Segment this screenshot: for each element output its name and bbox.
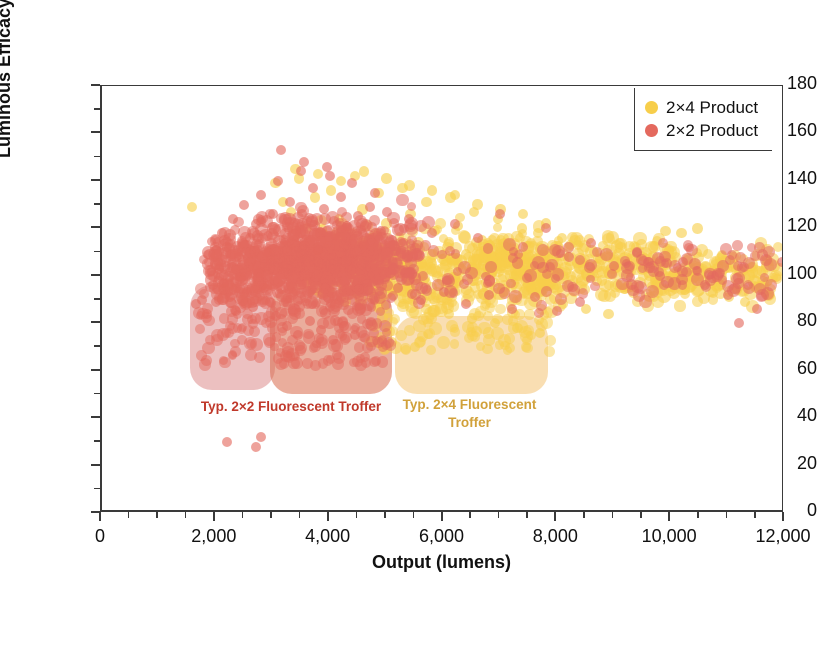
data-point <box>251 219 261 229</box>
x-tick-minor <box>299 512 301 518</box>
x-tick-label: 8,000 <box>495 526 615 547</box>
x-tick-minor <box>754 512 756 518</box>
data-point <box>472 199 482 209</box>
data-point <box>310 281 321 292</box>
data-point <box>217 228 227 238</box>
data-point <box>308 183 318 193</box>
x-tick-minor <box>128 512 130 518</box>
x-tick-major <box>441 512 443 521</box>
data-point <box>378 335 387 344</box>
data-point <box>704 268 716 280</box>
data-point <box>484 290 494 300</box>
data-point <box>195 324 205 334</box>
data-point <box>211 334 223 346</box>
legend-label-2x4: 2×4 Product <box>666 98 758 118</box>
data-point <box>439 287 449 297</box>
data-point <box>296 166 306 176</box>
data-point <box>245 247 256 258</box>
data-point <box>256 190 266 200</box>
x-tick-label: 2,000 <box>154 526 274 547</box>
data-point <box>524 269 537 282</box>
x-tick-label: 4,000 <box>268 526 388 547</box>
annotation-band-2x2: Typ. 2×2 Fluorescent Troffer <box>186 398 396 416</box>
data-point <box>421 197 431 207</box>
data-point <box>381 173 391 183</box>
data-point <box>535 328 545 338</box>
data-point <box>187 202 197 212</box>
data-point <box>674 300 685 311</box>
x-tick-label: 6,000 <box>382 526 502 547</box>
data-point <box>661 259 670 268</box>
data-point <box>545 335 556 346</box>
data-point <box>575 297 585 307</box>
data-point <box>703 249 713 259</box>
data-point <box>410 342 420 352</box>
data-point <box>337 207 347 217</box>
data-point <box>404 325 414 335</box>
data-point <box>765 279 777 291</box>
data-point <box>285 197 295 207</box>
data-point <box>590 282 599 291</box>
x-tick-minor <box>640 512 642 518</box>
data-point <box>517 223 527 233</box>
data-point <box>678 257 688 267</box>
data-point <box>405 257 417 269</box>
data-point <box>239 200 249 210</box>
data-point <box>330 264 340 274</box>
x-tick-minor <box>185 512 187 518</box>
data-point <box>336 176 346 186</box>
legend-label-2x2: 2×2 Product <box>666 121 758 141</box>
data-point <box>328 305 340 317</box>
y-tick-major <box>91 179 100 181</box>
data-point <box>313 245 323 255</box>
data-point <box>394 223 407 236</box>
data-point <box>255 312 267 324</box>
x-axis-title: Output (lumens) <box>100 552 783 573</box>
y-tick-major <box>91 369 100 371</box>
data-point <box>495 304 505 314</box>
data-point <box>444 309 454 319</box>
data-point <box>473 233 483 243</box>
data-point <box>195 283 207 295</box>
data-point <box>219 357 230 368</box>
data-point <box>404 180 414 190</box>
y-tick-major <box>91 416 100 418</box>
x-tick-major <box>782 512 784 521</box>
data-point <box>359 166 369 176</box>
data-point <box>544 346 555 357</box>
data-point <box>734 318 744 328</box>
data-point <box>299 157 309 167</box>
data-point <box>228 214 238 224</box>
data-point <box>508 253 518 263</box>
data-point <box>461 249 471 259</box>
data-point <box>676 228 686 238</box>
data-point <box>234 252 244 262</box>
data-point <box>280 308 289 317</box>
data-point <box>450 190 460 200</box>
x-tick-minor <box>413 512 415 518</box>
data-point <box>370 188 380 198</box>
data-point <box>692 296 703 307</box>
data-point <box>777 257 782 267</box>
data-point <box>692 223 702 233</box>
x-tick-minor <box>583 512 585 518</box>
x-tick-label: 10,000 <box>609 526 729 547</box>
data-point <box>322 162 332 172</box>
chart-legend: 2×4 Product 2×2 Product <box>634 88 772 151</box>
data-point <box>372 318 382 328</box>
data-point <box>541 223 551 233</box>
data-point <box>427 185 437 195</box>
data-point <box>282 346 294 358</box>
data-point <box>339 321 349 331</box>
data-point <box>717 260 729 272</box>
data-point <box>624 261 634 271</box>
data-point <box>506 279 515 288</box>
x-tick-minor <box>384 512 386 518</box>
data-point <box>476 342 486 352</box>
data-point <box>480 301 489 310</box>
legend-item-2x4[interactable]: 2×4 Product <box>645 96 758 119</box>
data-point <box>437 336 450 349</box>
data-point <box>332 358 344 370</box>
data-point <box>537 244 549 256</box>
data-point <box>723 290 733 300</box>
data-point <box>199 358 212 371</box>
data-point <box>633 289 645 301</box>
data-point <box>359 240 369 250</box>
data-point <box>245 233 255 243</box>
data-point <box>246 339 256 349</box>
data-point <box>450 327 459 336</box>
data-point <box>336 192 346 202</box>
data-point <box>273 176 283 186</box>
data-point <box>473 290 483 300</box>
data-point <box>293 330 303 340</box>
data-point <box>530 292 540 302</box>
data-point <box>518 209 528 219</box>
data-point <box>328 335 338 345</box>
y-tick-major <box>91 274 100 276</box>
y-tick-major <box>91 226 100 228</box>
data-point <box>347 178 357 188</box>
data-point <box>447 298 456 307</box>
data-point <box>267 322 279 334</box>
data-point <box>534 308 544 318</box>
data-point <box>509 290 522 303</box>
data-point <box>393 283 403 293</box>
data-point <box>426 345 436 355</box>
data-point <box>733 278 744 289</box>
data-point <box>512 323 522 333</box>
data-point <box>202 309 212 319</box>
data-point <box>430 296 440 306</box>
data-point <box>254 268 264 278</box>
annotation-band-2x4: Typ. 2×4 Fluorescent Troffer <box>392 396 547 432</box>
x-tick-minor <box>612 512 614 518</box>
data-point <box>390 314 400 324</box>
data-point <box>361 275 370 284</box>
legend-item-2x2[interactable]: 2×2 Product <box>645 119 758 142</box>
x-tick-minor <box>697 512 699 518</box>
x-tick-minor <box>270 512 272 518</box>
data-point <box>493 223 502 232</box>
data-point <box>327 287 338 298</box>
x-tick-minor <box>356 512 358 518</box>
data-point <box>411 279 423 291</box>
scatter-chart: Luminous Efficacy (lm/W) 020406080100120… <box>0 0 817 645</box>
data-point <box>326 185 336 195</box>
data-point <box>276 145 286 155</box>
data-point <box>282 246 292 256</box>
y-tick-major <box>91 464 100 466</box>
data-point <box>499 287 510 298</box>
x-tick-minor <box>726 512 728 518</box>
data-point <box>302 254 311 263</box>
data-point <box>484 275 495 286</box>
data-point <box>303 331 315 343</box>
data-point <box>256 432 266 442</box>
data-point <box>251 442 261 452</box>
data-point <box>422 285 433 296</box>
data-point <box>271 311 281 321</box>
data-point <box>564 252 574 262</box>
x-tick-minor <box>242 512 244 518</box>
x-tick-major <box>668 512 670 521</box>
data-point <box>764 258 777 271</box>
data-point <box>325 171 335 181</box>
data-point <box>248 302 258 312</box>
y-tick-major <box>91 131 100 133</box>
data-point <box>621 269 634 282</box>
data-point <box>268 209 278 219</box>
data-point <box>660 226 670 236</box>
data-point <box>341 255 352 266</box>
data-point <box>310 192 320 202</box>
x-tick-major <box>99 512 101 521</box>
data-point <box>283 293 293 303</box>
data-point <box>274 254 284 264</box>
data-point <box>507 304 517 314</box>
data-point <box>222 437 232 447</box>
data-point <box>202 258 213 269</box>
data-point <box>573 240 583 250</box>
data-point <box>354 342 365 353</box>
data-point <box>273 273 286 286</box>
data-point <box>282 321 292 331</box>
data-point <box>357 314 367 324</box>
data-point <box>302 358 313 369</box>
data-point <box>316 305 327 316</box>
data-point <box>426 313 437 324</box>
data-point <box>467 313 477 323</box>
data-point <box>392 258 402 268</box>
data-point <box>305 316 315 326</box>
data-point <box>655 271 665 281</box>
data-point <box>437 250 446 259</box>
legend-swatch-2x4-icon <box>645 101 658 114</box>
data-point <box>214 264 224 274</box>
data-point <box>382 207 392 217</box>
legend-swatch-2x2-icon <box>645 124 658 137</box>
data-point <box>396 194 408 206</box>
x-tick-label: 0 <box>40 526 160 547</box>
data-point <box>245 349 257 361</box>
data-point <box>347 294 358 305</box>
data-point <box>603 309 613 319</box>
data-point <box>683 240 693 250</box>
data-point <box>291 226 301 236</box>
data-point <box>360 219 372 231</box>
data-point <box>752 304 762 314</box>
data-point <box>483 327 494 338</box>
x-tick-minor <box>156 512 158 518</box>
data-point <box>313 169 323 179</box>
data-point <box>458 261 471 274</box>
x-tick-major <box>554 512 556 521</box>
data-point <box>638 256 648 266</box>
data-point <box>354 284 363 293</box>
data-point <box>303 299 313 309</box>
data-point <box>552 306 562 316</box>
x-tick-minor <box>498 512 500 518</box>
data-point <box>365 202 375 212</box>
data-point <box>450 339 460 349</box>
data-point <box>495 209 505 219</box>
data-point <box>632 247 642 257</box>
y-axis-title: Luminous Efficacy (lm/W) <box>0 0 15 178</box>
data-point <box>321 252 330 261</box>
y-tick-major <box>91 321 100 323</box>
data-point <box>295 345 306 356</box>
x-tick-major <box>327 512 329 521</box>
x-tick-major <box>213 512 215 521</box>
data-point <box>461 299 471 309</box>
y-tick-major <box>91 84 100 86</box>
x-tick-minor <box>526 512 528 518</box>
data-point <box>259 283 269 293</box>
data-point <box>294 308 305 319</box>
data-point <box>483 243 493 253</box>
data-point <box>450 219 460 229</box>
data-point <box>551 274 560 283</box>
data-point <box>427 228 437 238</box>
data-point <box>754 242 765 253</box>
data-point <box>458 230 471 243</box>
data-point <box>265 297 275 307</box>
data-point <box>467 330 477 340</box>
x-tick-minor <box>469 512 471 518</box>
data-point <box>416 295 426 305</box>
x-tick-label: 12,000 <box>723 526 817 547</box>
data-point <box>376 226 386 236</box>
data-point <box>342 221 352 231</box>
